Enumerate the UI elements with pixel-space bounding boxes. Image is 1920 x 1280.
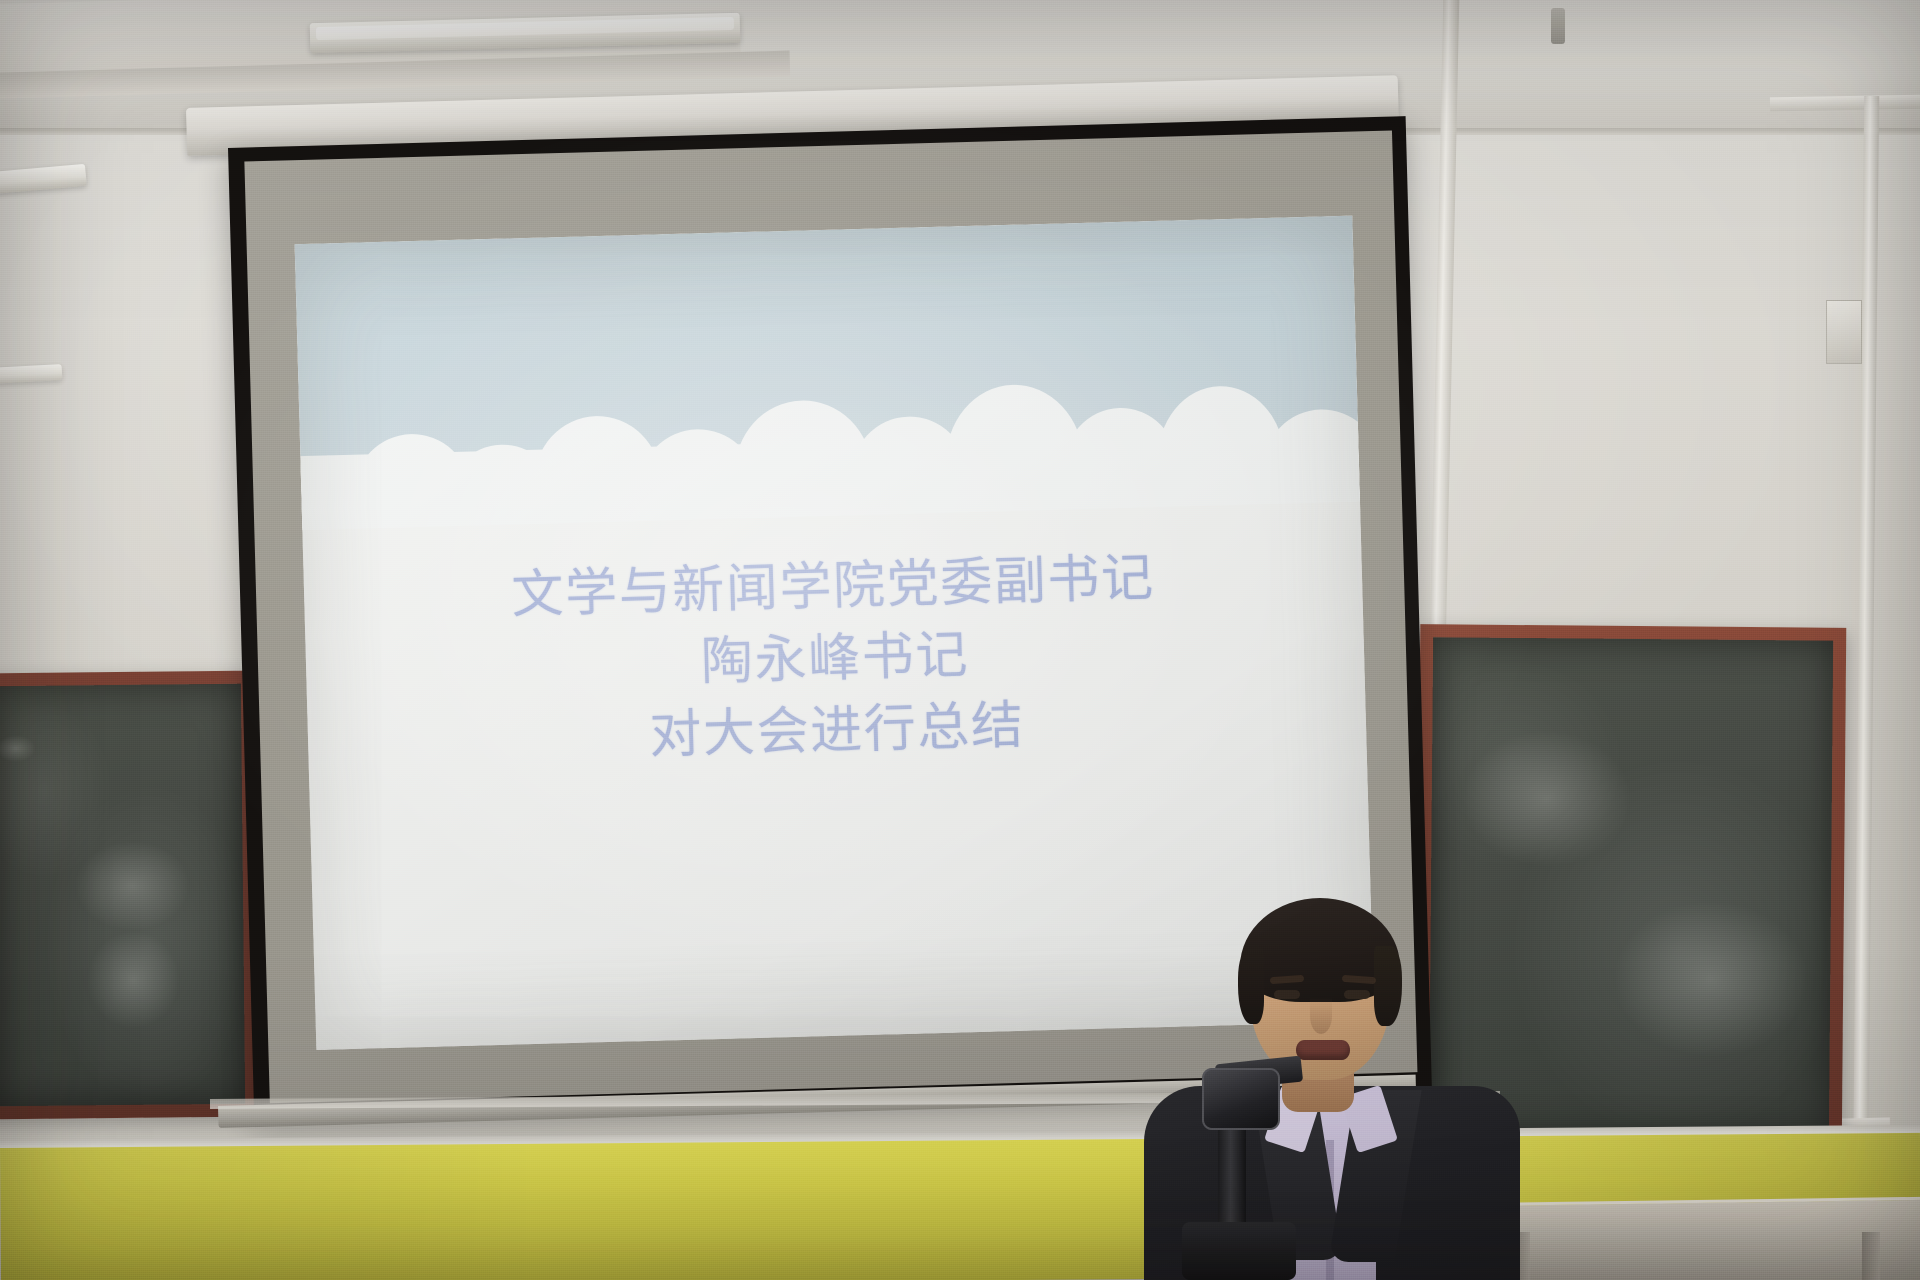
hair-side-right xyxy=(1374,946,1402,1026)
nose xyxy=(1310,998,1332,1034)
hair-side-left xyxy=(1238,948,1264,1024)
microphone-base xyxy=(1182,1222,1296,1280)
electrical-junction-box xyxy=(1826,300,1862,364)
photograph-scene: 文学与新闻学院党委副书记 陶永峰书记 对大会进行总结 xyxy=(0,0,1920,1280)
mouth xyxy=(1296,1040,1350,1060)
cloud-puff xyxy=(1262,408,1374,505)
blackboard-left-surface xyxy=(0,684,245,1107)
slide-text-block: 文学与新闻学院党委副书记 陶永峰书记 对大会进行总结 xyxy=(303,538,1366,782)
chalk-smudge xyxy=(1612,899,1809,1059)
wall-conduit-bend xyxy=(1770,95,1920,112)
speaker-person xyxy=(1120,890,1540,1280)
chalk-smudge xyxy=(75,841,191,931)
eye-left xyxy=(1274,990,1300,999)
table-leg xyxy=(1862,1232,1880,1280)
blackboard-left xyxy=(0,671,258,1120)
microphone-head xyxy=(1202,1068,1280,1130)
ceiling-sprinkler xyxy=(1551,8,1565,44)
slide-cloud-band xyxy=(298,340,1360,530)
eye-right xyxy=(1344,990,1370,999)
chalk-smudge xyxy=(1461,730,1633,868)
chalk-smudge xyxy=(0,735,35,762)
chalk-smudge xyxy=(86,930,180,1029)
